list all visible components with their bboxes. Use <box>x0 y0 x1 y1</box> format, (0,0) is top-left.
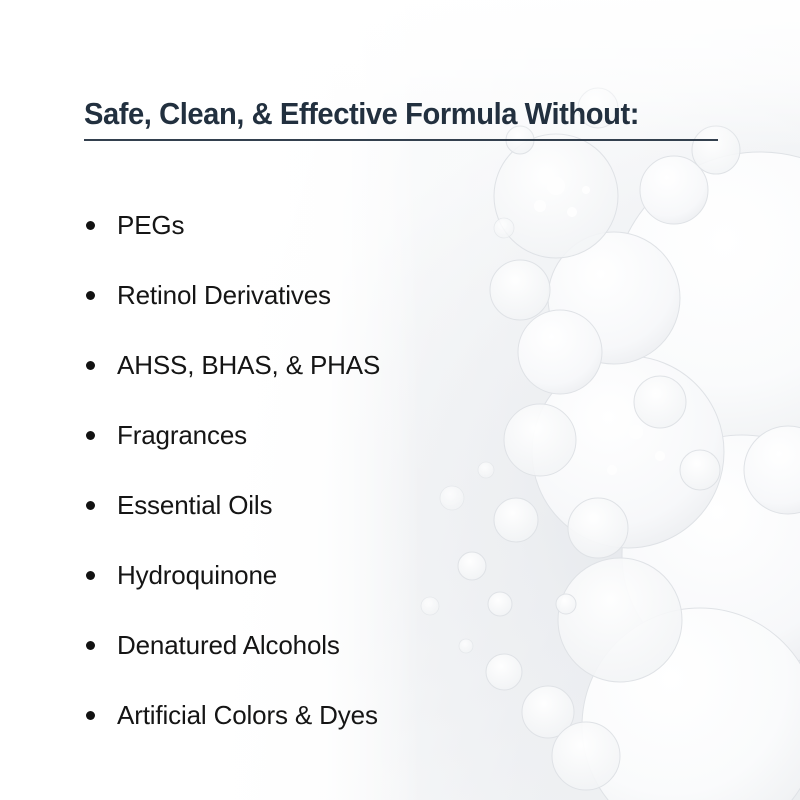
list-item: Hydroquinone <box>86 540 706 610</box>
promo-graphic: Safe, Clean, & Effective Formula Without… <box>0 0 800 800</box>
bullet-icon <box>86 641 95 650</box>
headline-block: Safe, Clean, & Effective Formula Without… <box>84 98 744 141</box>
list-item-label: Essential Oils <box>117 492 272 518</box>
list-item: Essential Oils <box>86 470 706 540</box>
list-item: AHSS, BHAS, & PHAS <box>86 330 706 400</box>
bullet-icon <box>86 501 95 510</box>
list-item: Denatured Alcohols <box>86 610 706 680</box>
list-item-label: Denatured Alcohols <box>117 632 340 658</box>
list-item-label: Fragrances <box>117 422 247 448</box>
list-item-label: PEGs <box>117 212 184 238</box>
list-item-label: Artificial Colors & Dyes <box>117 702 378 728</box>
bullet-icon <box>86 711 95 720</box>
list-item: Artificial Colors & Dyes <box>86 680 706 750</box>
list-item: Fragrances <box>86 400 706 470</box>
bullet-icon <box>86 431 95 440</box>
bullet-icon <box>86 221 95 230</box>
list-item-label: Retinol Derivatives <box>117 282 331 308</box>
bullet-icon <box>86 571 95 580</box>
list-item-label: AHSS, BHAS, & PHAS <box>117 352 380 378</box>
excluded-ingredients-list: PEGs Retinol Derivatives AHSS, BHAS, & P… <box>86 190 706 750</box>
page-title: Safe, Clean, & Effective Formula Without… <box>84 98 714 131</box>
list-item-label: Hydroquinone <box>117 562 277 588</box>
bullet-icon <box>86 361 95 370</box>
bullet-icon <box>86 291 95 300</box>
headline-underline <box>84 139 718 141</box>
list-item: PEGs <box>86 190 706 260</box>
list-item: Retinol Derivatives <box>86 260 706 330</box>
